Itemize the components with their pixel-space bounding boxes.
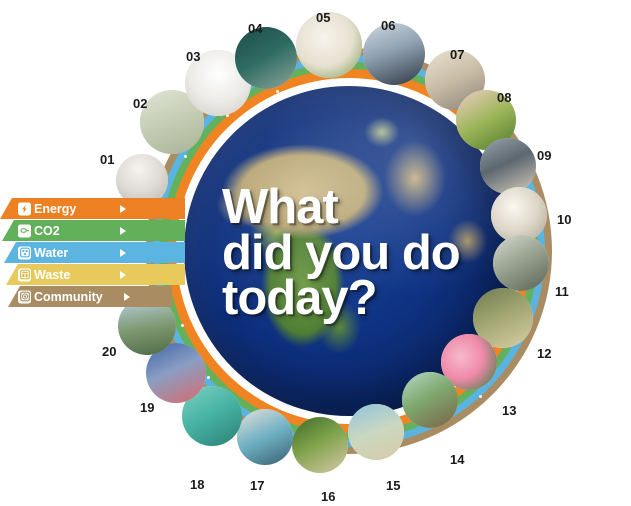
category-menu: Energy CO2 [0,198,205,308]
menu-label-community: Community [34,290,103,304]
bubble-number-06: 06 [381,18,395,33]
lightning-bolt-icon [18,202,31,215]
chevron-right-icon-waste [120,271,126,279]
bubble-number-14: 14 [450,452,464,467]
chevron-right-icon-community [124,293,130,301]
menu-item-waste[interactable]: Waste [0,264,205,285]
hand-washing-car-window-image [235,27,297,89]
menu-label-co2: CO2 [34,224,60,238]
ring-dot [207,376,210,379]
menu-label-waste: Waste [34,268,70,282]
bubble-number-05: 05 [316,10,330,25]
page-title: What did you do today? [222,185,484,322]
bubble-number-01: 01 [100,152,114,167]
headline-line-2: did you do [222,231,484,277]
ring-dot [184,155,187,158]
headline-line-3: today? [222,276,484,322]
solar-panels-on-roof-image [480,138,536,194]
menu-label-energy: Energy [34,202,76,216]
ring-dot [181,324,184,327]
bubble-number-15: 15 [386,478,400,493]
infographic-stage: What did you do today? 01020304050607080… [0,0,631,506]
chevron-right-icon-water [120,249,126,257]
photo-bubble-11[interactable] [493,235,549,291]
bubble-number-10: 10 [557,212,571,227]
bubble-number-07: 07 [450,47,464,62]
bubble-number-13: 13 [502,403,516,418]
bubble-number-16: 16 [321,489,335,504]
recycle-bin-icon [18,268,31,281]
bubble-number-04: 04 [248,21,262,36]
exhaust-cloud-icon [18,224,31,237]
water-drops-icon [18,246,31,259]
bubble-number-18: 18 [190,477,204,492]
bubble-number-09: 09 [537,148,551,163]
menu-label-water: Water [34,246,68,260]
bubble-number-03: 03 [186,49,200,64]
bubble-number-17: 17 [250,478,264,493]
photo-bubble-15[interactable] [348,404,404,460]
chevron-right-icon-co2 [120,227,126,235]
menu-item-energy[interactable]: Energy [0,198,205,219]
ring-dot [479,395,482,398]
chevron-right-icon-energy [120,205,126,213]
bubble-number-19: 19 [140,400,154,415]
woman-recycling-paper-image [237,409,293,465]
menu-item-water[interactable]: Water [0,242,205,263]
photo-bubble-16[interactable] [292,417,348,473]
menu-item-co2[interactable]: CO2 [0,220,205,241]
headline-line-1: What [222,185,484,231]
delivery-truck-and-crates-image [493,235,549,291]
people-globe-icon [18,290,31,303]
photo-bubble-09[interactable] [480,138,536,194]
photo-bubble-14[interactable] [402,372,458,428]
menu-item-community[interactable]: Community [0,286,205,307]
photo-bubble-17[interactable] [237,409,293,465]
bubble-number-11: 11 [555,284,569,299]
bubble-number-20: 20 [102,344,116,359]
bubble-number-12: 12 [537,346,551,361]
bubble-number-08: 08 [497,90,511,105]
people-walking-on-beach-image [348,404,404,460]
photo-bubble-04[interactable] [235,27,297,89]
hands-planting-seedling-image [402,372,458,428]
hands-holding-plant-sample-image [292,417,348,473]
bubble-number-02: 02 [133,96,147,111]
